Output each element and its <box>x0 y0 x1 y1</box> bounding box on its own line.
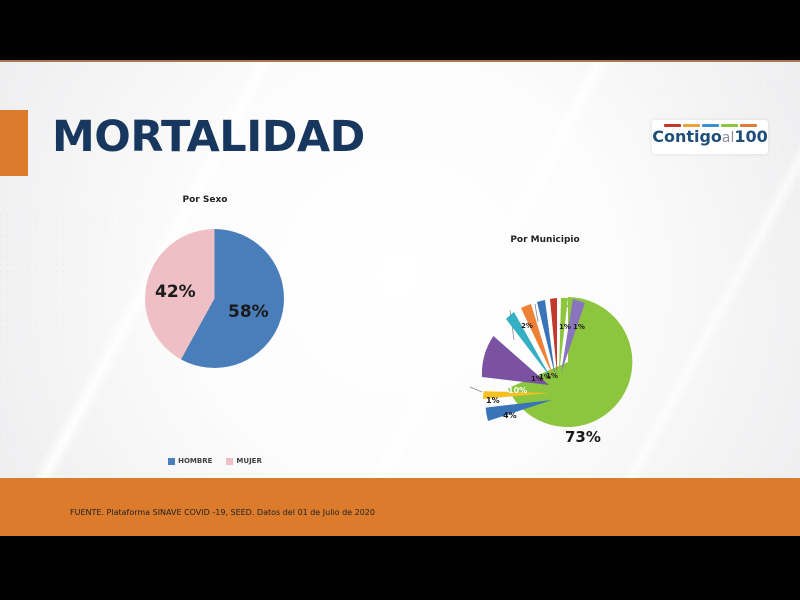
letterbox-top <box>0 0 800 60</box>
pie-slice-label-ags: 73% <box>565 428 601 446</box>
slide-screenshot: MORTALIDAD Contigoal100 Por Sexo 58% 42%… <box>0 0 800 600</box>
legend-item-mujer: MUJER <box>226 457 261 465</box>
pie-slice-label-foraneos: 10% <box>508 386 527 395</box>
page-title: MORTALIDAD <box>52 112 365 162</box>
legend-label: HOMBRE <box>178 457 212 465</box>
legend-swatch-icon <box>226 458 233 465</box>
title-accent-bar <box>0 110 28 176</box>
pie-slice-label-mujer: 42% <box>155 282 196 302</box>
legend-item-hombre: HOMBRE <box>168 457 212 465</box>
logo-part-3: 100 <box>734 127 767 146</box>
legend-por-sexo: HOMBRE MUJER <box>125 457 305 465</box>
pie-chart-por-municipio <box>452 252 652 462</box>
contigo-al-100-logo: Contigoal100 <box>652 120 768 154</box>
legend-label: MUJER <box>236 457 261 465</box>
pie-slice-label-elllano: 2% <box>521 322 533 330</box>
chart-title-por-sexo: Por Sexo <box>145 195 265 205</box>
footer-source-text: FUENTE. Plataforma SINAVE COVID -19, SEE… <box>70 508 375 517</box>
presentation-slide: MORTALIDAD Contigoal100 Por Sexo 58% 42%… <box>0 62 800 536</box>
pie-slice-label-rr: 1% <box>573 323 585 331</box>
footer-band <box>0 478 800 536</box>
top-divider-line <box>0 60 800 62</box>
chart-title-por-municipio: Por Municipio <box>480 235 610 245</box>
pie-slice-label-hombre: 58% <box>228 302 269 322</box>
logo-text: Contigoal100 <box>652 129 768 145</box>
pie-slice-label-sfr: 1% <box>486 396 500 405</box>
legend-swatch-icon <box>168 458 175 465</box>
dot-texture-left <box>0 212 180 462</box>
pie-slice-cosio <box>550 298 557 374</box>
logo-part-1: Contigo <box>652 127 722 146</box>
pie-slice-label-cosio: 1% <box>546 372 558 380</box>
pie-slice-label-sjg: 1% <box>559 323 571 331</box>
letterbox-bottom <box>0 536 800 600</box>
pie-slice-label-pa: 4% <box>503 411 517 420</box>
logo-part-2: al <box>722 130 734 146</box>
